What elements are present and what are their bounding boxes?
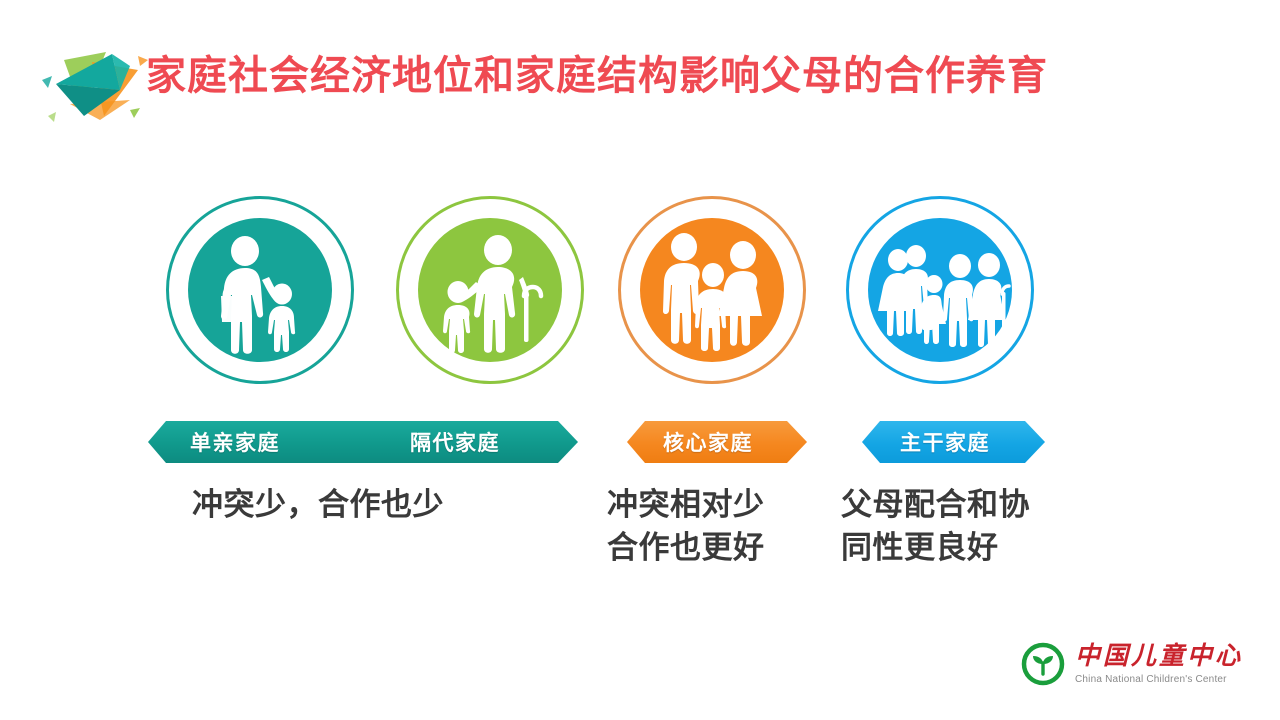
extended-family-icon — [868, 218, 1012, 362]
banner-label-skipped-generation: 隔代家庭 — [410, 427, 500, 457]
family-type-banners: 单亲家庭 隔代家庭 核心家庭 主干家庭 — [0, 421, 1280, 467]
organization-logo: 中国儿童中心 China National Children's Center — [1020, 633, 1260, 695]
sprout-circle-icon — [1020, 641, 1066, 687]
family-icon-skipped-generation — [395, 196, 585, 392]
organization-name-cn: 中国儿童中心 — [1075, 643, 1243, 669]
family-icon-single-parent — [165, 196, 355, 392]
organization-name-en: China National Children's Center — [1075, 674, 1243, 685]
banner-teal[interactable]: 单亲家庭 隔代家庭 — [148, 421, 578, 463]
organization-name: 中国儿童中心 China National Children's Center — [1075, 643, 1243, 684]
nuclear-family-icon — [640, 218, 784, 362]
caption-stem: 父母配合和协 同性更良好 — [841, 484, 1030, 570]
slide-canvas: 家庭社会经济地位和家庭结构影响父母的合作养育 — [0, 0, 1280, 720]
banner-blue[interactable]: 主干家庭 — [862, 421, 1045, 463]
title-row: 家庭社会经济地位和家庭结构影响父母的合作养育 — [0, 18, 1280, 118]
page-title: 家庭社会经济地位和家庭结构影响父母的合作养育 — [146, 51, 1048, 101]
banner-label-single-parent: 单亲家庭 — [190, 427, 280, 457]
family-icon-stem — [845, 196, 1035, 392]
caption-group: 冲突少，合作也少 冲突相对少 合作也更好 父母配合和协 同性更良好 — [0, 484, 1280, 594]
single-parent-family-icon — [188, 218, 332, 362]
family-type-icons — [0, 196, 1280, 396]
caption-nuclear: 冲突相对少 合作也更好 — [607, 484, 765, 570]
banner-label-stem: 主干家庭 — [900, 427, 990, 457]
caption-single-parent: 冲突少，合作也少 — [192, 484, 444, 527]
banner-orange[interactable]: 核心家庭 — [627, 421, 807, 463]
grandparent-and-child-icon — [418, 218, 562, 362]
family-icon-nuclear — [617, 196, 807, 392]
banner-label-nuclear: 核心家庭 — [663, 427, 753, 457]
origami-triangles-icon — [34, 40, 154, 126]
